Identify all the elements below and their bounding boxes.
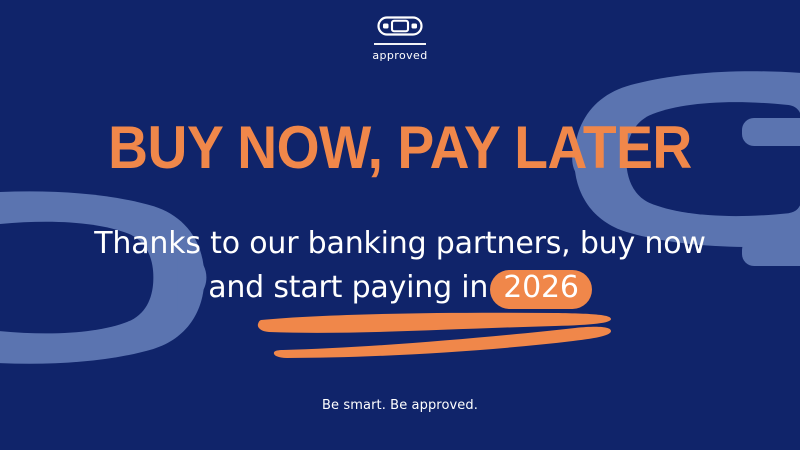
- car-top-view-icon: [377, 14, 423, 38]
- subheadline: Thanks to our banking partners, buy now …: [0, 222, 800, 310]
- brand-logo: approved: [0, 14, 800, 62]
- headline: BUY NOW, PAY LATER: [32, 118, 768, 178]
- year-highlight-badge: 2026: [490, 270, 592, 309]
- subheadline-line-2-text: and start paying in: [208, 270, 488, 305]
- brand-name: approved: [372, 49, 427, 62]
- subheadline-line-2: and start paying in2026: [0, 266, 800, 310]
- tagline: Be smart. Be approved.: [0, 398, 800, 413]
- subheadline-line-1: Thanks to our banking partners, buy now: [0, 222, 800, 266]
- hand-drawn-underline: [255, 308, 615, 360]
- promo-banner: approved BUY NOW, PAY LATER Thanks to ou…: [0, 0, 800, 450]
- logo-divider: [374, 43, 426, 45]
